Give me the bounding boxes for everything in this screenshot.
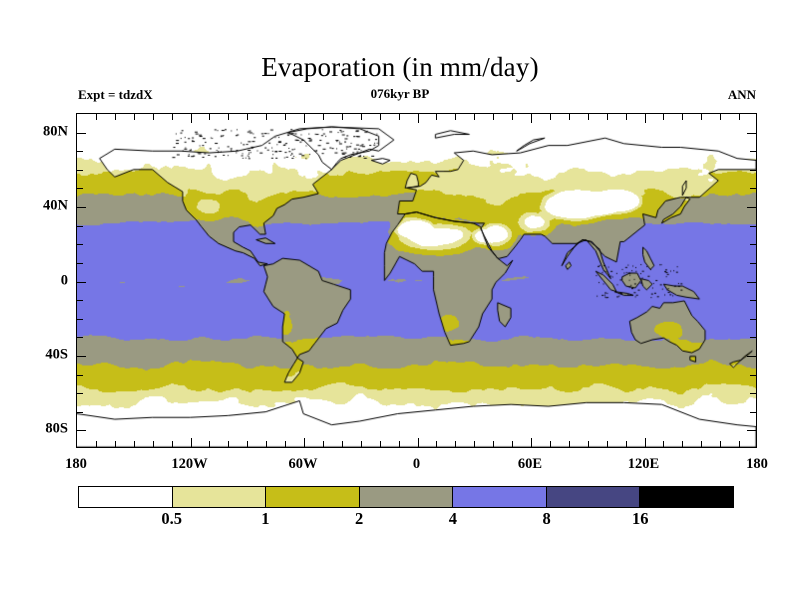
x-axis-tick [191,438,192,447]
x-axis-label: 180 [65,456,87,473]
x-axis-label: 120W [171,456,207,473]
page-title: Evaporation (in mm/day) [0,52,800,83]
x-axis-tick [701,441,702,447]
x-axis-tick-top [418,114,419,123]
y-axis-tick [77,207,86,208]
y-axis-tick [77,300,83,301]
x-axis-tick [663,441,664,447]
x-axis-tick [550,441,551,447]
colorbar-band-black [639,487,733,507]
evaporation-map-canvas [77,114,756,447]
x-axis-tick-top [645,114,646,123]
x-axis-tick-top [323,114,324,120]
x-axis-tick [247,441,248,447]
y-axis-tick-right [750,393,756,394]
y-axis-tick [77,188,83,189]
x-axis-tick-top [682,114,683,120]
x-axis-tick [304,438,305,447]
x-axis-tick [323,441,324,447]
x-axis-tick-top [266,114,267,120]
y-axis-tick [77,375,83,376]
y-axis-tick-right [750,151,756,152]
y-axis-tick-right [747,207,756,208]
y-axis-tick [77,337,83,338]
x-axis-tick [380,441,381,447]
y-axis-tick [77,356,86,357]
colorbar-tick-label: 4 [449,509,457,529]
x-axis-tick [285,441,286,447]
y-axis-tick-right [747,430,756,431]
y-axis-tick-right [747,282,756,283]
x-axis-label: 60E [518,456,542,473]
y-axis-tick-right [750,188,756,189]
x-axis-tick [361,441,362,447]
x-axis-tick-top [153,114,154,120]
x-axis-tick-top [607,114,608,120]
x-axis-tick-top [361,114,362,120]
x-axis-tick-top [436,114,437,120]
y-axis-label: 40N [22,198,68,215]
x-axis-tick-top [134,114,135,120]
y-axis-tick [77,244,83,245]
experiment-label: Expt = tdzdX [78,87,153,103]
x-axis-tick [96,441,97,447]
figure-root: Evaporation (in mm/day) 076kyr BP Expt =… [0,0,800,600]
colorbar-band-periwinkle [452,487,546,507]
y-axis-tick-right [750,375,756,376]
x-axis-tick-top [455,114,456,120]
x-axis-tick-top [247,114,248,120]
y-axis-tick [77,170,83,171]
x-axis-tick-top [172,114,173,120]
x-axis-label: 120E [628,456,659,473]
x-axis-tick [682,441,683,447]
y-axis-tick [77,393,83,394]
y-axis-tick-right [747,133,756,134]
x-axis-tick [399,441,400,447]
x-axis-tick [493,441,494,447]
x-axis-tick-top [588,114,589,120]
y-axis-tick-right [750,170,756,171]
x-axis-tick [531,438,532,447]
y-axis-tick [77,151,83,152]
x-axis-tick [266,441,267,447]
colorbar-band-dark-slate-blue [546,487,640,507]
x-axis-tick [153,441,154,447]
x-axis-tick-top [285,114,286,120]
y-axis-tick [77,282,86,283]
colorbar [78,486,734,508]
x-axis-tick-top [493,114,494,120]
colorbar-tick-label: 1 [261,509,269,529]
x-axis-tick [342,441,343,447]
x-axis-tick [455,441,456,447]
colorbar-band-olive [265,487,359,507]
x-axis-tick-top [531,114,532,123]
y-axis-tick [77,412,83,413]
colorbar-band-pale-khaki [172,487,266,507]
x-axis-tick [418,438,419,447]
x-axis-tick-top [304,114,305,123]
x-axis-tick [228,441,229,447]
x-axis-tick-top [228,114,229,120]
x-axis-tick [134,441,135,447]
y-axis-tick [77,263,83,264]
x-axis-tick-top [96,114,97,120]
y-axis-tick [77,133,86,134]
x-axis-tick [607,441,608,447]
x-axis-label: 0 [413,456,420,473]
season-label: ANN [728,87,756,103]
y-axis-tick-right [750,412,756,413]
x-axis-tick-top [342,114,343,120]
x-axis-label: 180 [746,456,768,473]
x-axis-tick-top [380,114,381,120]
x-axis-tick [512,441,513,447]
y-axis-tick [77,430,86,431]
colorbar-tick-label: 16 [632,509,649,529]
x-axis-tick-top [474,114,475,120]
x-axis-tick-top [399,114,400,120]
y-axis-tick-right [750,244,756,245]
colorbar-band-gray-olive [359,487,453,507]
x-axis-tick-top [550,114,551,120]
x-axis-tick-top [569,114,570,120]
x-axis-label: 60W [289,456,318,473]
x-axis-tick [436,441,437,447]
y-axis-label: 80S [22,421,68,438]
y-axis-tick [77,226,83,227]
x-axis-tick-top [115,114,116,120]
y-axis-label: 40S [22,346,68,363]
y-axis-label: 80N [22,123,68,140]
x-axis-tick [209,441,210,447]
x-axis-tick-top [663,114,664,120]
x-axis-tick [626,441,627,447]
x-axis-tick [115,441,116,447]
colorbar-tick-label: 0.5 [161,509,182,529]
y-axis-tick-right [750,337,756,338]
x-axis-tick [645,438,646,447]
y-axis-tick-right [750,226,756,227]
colorbar-tick-label: 8 [542,509,550,529]
x-axis-tick-top [701,114,702,120]
y-axis-tick-right [750,300,756,301]
x-axis-tick [569,441,570,447]
colorbar-band-white [79,487,172,507]
x-axis-tick-top [191,114,192,123]
x-axis-tick [588,441,589,447]
y-axis-tick [77,319,83,320]
y-axis-tick-right [747,356,756,357]
x-axis-tick [739,441,740,447]
map-plot-area [76,113,757,448]
y-axis-label: 0 [22,272,68,289]
x-axis-tick-top [626,114,627,120]
y-axis-tick-right [750,263,756,264]
colorbar-tick-label: 2 [355,509,363,529]
x-axis-tick-top [739,114,740,120]
x-axis-tick-top [720,114,721,120]
x-axis-tick [474,441,475,447]
x-axis-tick [172,441,173,447]
x-axis-tick-top [209,114,210,120]
x-axis-tick [720,441,721,447]
x-axis-tick-top [512,114,513,120]
y-axis-tick-right [750,319,756,320]
